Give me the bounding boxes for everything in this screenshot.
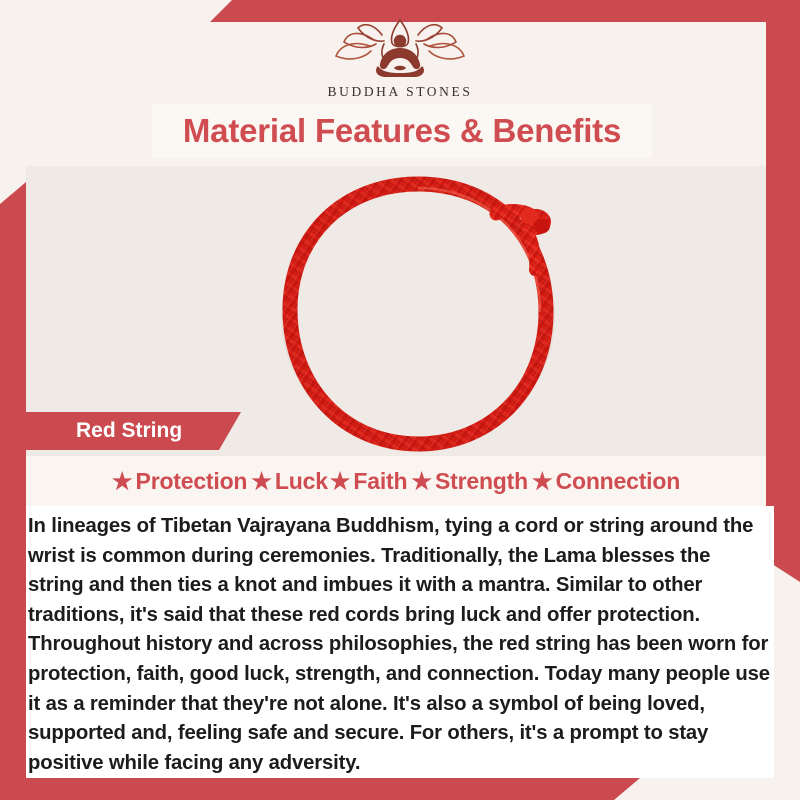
star-icon: ★ bbox=[411, 470, 432, 493]
star-icon: ★ bbox=[532, 470, 553, 493]
feature-label: Luck bbox=[275, 468, 328, 495]
feature-label: Strength bbox=[435, 468, 528, 495]
title-banner: Material Features & Benefits bbox=[152, 104, 652, 158]
feature-item: ★ Protection bbox=[112, 468, 247, 495]
decorative-bar-right bbox=[766, 22, 800, 582]
decorative-bar-left bbox=[0, 182, 26, 782]
feature-item: ★ Luck bbox=[251, 468, 328, 495]
feature-label: Protection bbox=[136, 468, 248, 495]
description-paragraph: In lineages of Tibetan Vajrayana Buddhis… bbox=[28, 512, 770, 778]
feature-item: ★ Faith bbox=[330, 468, 408, 495]
description-card: In lineages of Tibetan Vajrayana Buddhis… bbox=[26, 506, 774, 778]
feature-item: ★ Connection bbox=[532, 468, 680, 495]
feature-label: Faith bbox=[353, 468, 407, 495]
features-strip: ★ Protection ★ Luck ★ Faith ★ Strength ★… bbox=[26, 456, 766, 506]
page-title: Material Features & Benefits bbox=[183, 112, 621, 150]
ribbon-label: Red String bbox=[76, 419, 182, 443]
lotus-meditation-icon bbox=[324, 16, 476, 82]
brand-name: BUDDHA STONES bbox=[328, 84, 473, 100]
infographic-page: BUDDHA STONES Material Features & Benefi… bbox=[0, 0, 800, 800]
feature-label: Connection bbox=[556, 468, 681, 495]
star-icon: ★ bbox=[112, 470, 133, 493]
red-braided-bracelet-image bbox=[248, 166, 588, 456]
star-icon: ★ bbox=[251, 470, 272, 493]
brand-header: BUDDHA STONES bbox=[0, 0, 800, 104]
star-icon: ★ bbox=[330, 470, 351, 493]
decorative-bar-bottom bbox=[0, 778, 640, 800]
section-ribbon: Red String bbox=[26, 412, 241, 450]
feature-item: ★ Strength bbox=[411, 468, 528, 495]
